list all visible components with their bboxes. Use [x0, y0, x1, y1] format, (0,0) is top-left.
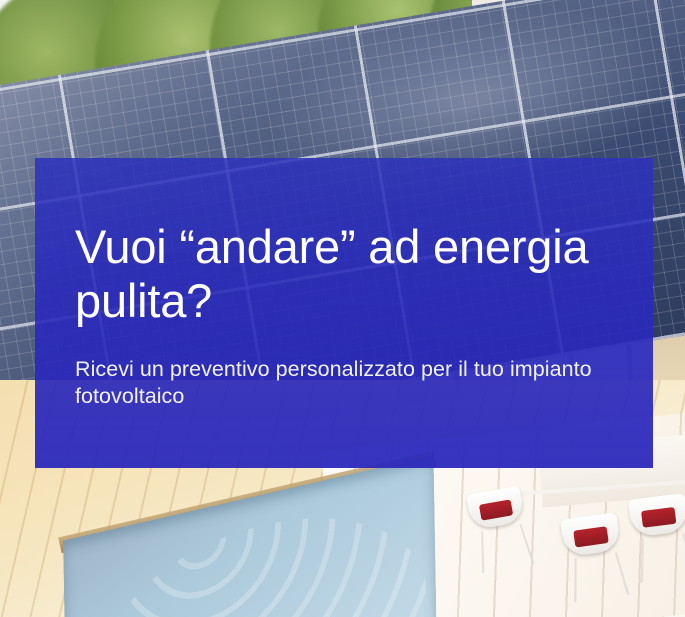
hero-subtitle: Ricevi un preventivo personalizzato per …: [75, 356, 595, 410]
hero-banner: Vuoi “andare” ad energia pulita? Ricevi …: [0, 0, 685, 617]
hero-text-overlay: Vuoi “andare” ad energia pulita? Ricevi …: [35, 158, 653, 468]
hero-title: Vuoi “andare” ad energia pulita?: [75, 220, 613, 328]
chair-legs: [641, 533, 685, 582]
